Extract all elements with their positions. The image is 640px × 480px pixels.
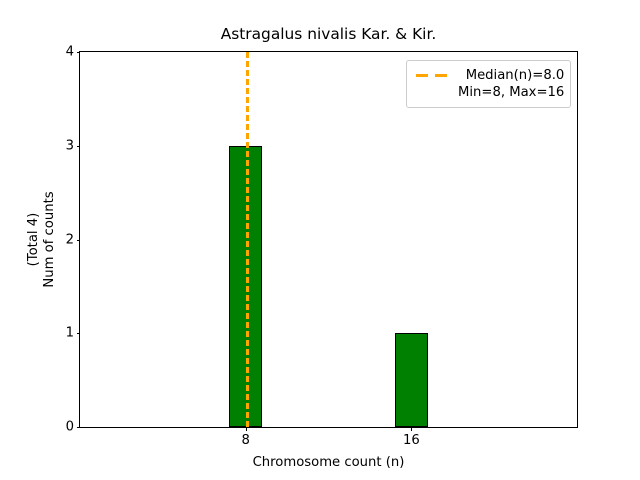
x-tick-label: 8 — [241, 434, 249, 447]
y-axis-label-line1: Num of counts — [42, 191, 58, 287]
bar — [395, 333, 428, 427]
x-tick-mark — [411, 427, 412, 431]
legend-item-median: Median(n)=8.0 — [458, 67, 564, 84]
plot-inner — [80, 52, 577, 427]
y-tick-label: 4 — [66, 45, 74, 58]
legend-item-range: Min=8, Max=16 — [458, 84, 564, 101]
legend-median-line-icon — [415, 67, 451, 84]
median-line — [246, 52, 249, 427]
y-tick-mark — [77, 333, 81, 334]
chart-title: Astragalus nivalis Kar. & Kir. — [79, 25, 578, 43]
x-tick-label: 16 — [403, 434, 420, 447]
y-tick-label: 3 — [66, 139, 74, 152]
legend: Median(n)=8.0 Min=8, Max=16 — [406, 60, 571, 108]
y-tick-mark — [77, 52, 81, 53]
legend-labels: Median(n)=8.0 Min=8, Max=16 — [458, 67, 564, 101]
y-axis-label-line2: (Total 4) — [26, 213, 42, 267]
chart-figure: Astragalus nivalis Kar. & Kir. 01234816 … — [0, 0, 640, 480]
y-tick-mark — [77, 240, 81, 241]
x-axis-label: Chromosome count (n) — [79, 455, 578, 470]
y-tick-mark — [77, 146, 81, 147]
y-tick-label: 0 — [66, 420, 74, 433]
y-tick-label: 1 — [66, 327, 74, 340]
y-tick-label: 2 — [66, 233, 74, 246]
y-axis-label: (Total 4) Num of counts — [26, 51, 66, 428]
x-tick-mark — [246, 427, 247, 431]
y-tick-mark — [77, 427, 81, 428]
